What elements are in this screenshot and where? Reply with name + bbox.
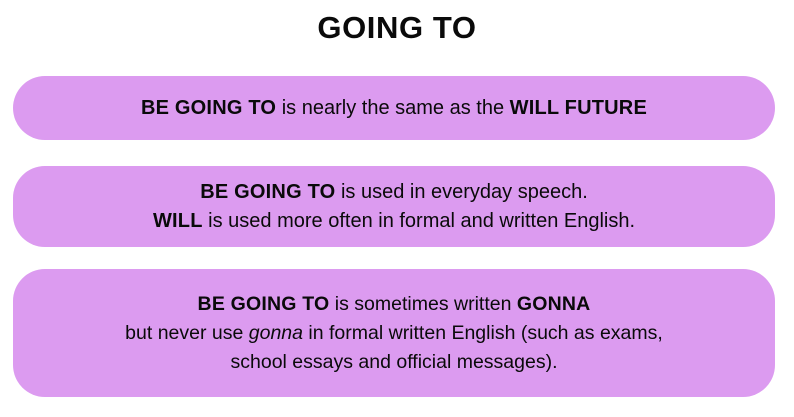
emphasis-bold: GONNA bbox=[517, 293, 591, 315]
card-text-line: but never use gonna in formal written En… bbox=[39, 319, 749, 348]
emphasis-bold: WILL bbox=[153, 210, 203, 232]
text-segment: school essays and official messages). bbox=[231, 351, 558, 373]
infographic-page: GOING TO BE GOING TO is nearly the same … bbox=[0, 0, 794, 417]
card-text-line: BE GOING TO is used in everyday speech. bbox=[39, 178, 749, 207]
emphasis-bold: BE GOING TO bbox=[198, 293, 330, 315]
info-card-nearly-same: BE GOING TO is nearly the same as the WI… bbox=[13, 76, 775, 140]
info-card-gonna: BE GOING TO is sometimes written GONNAbu… bbox=[13, 269, 775, 397]
text-segment: is used more often in formal and written… bbox=[203, 210, 635, 232]
page-title: GOING TO bbox=[0, 9, 794, 47]
emphasis-italic: gonna bbox=[249, 322, 303, 344]
emphasis-bold: WILL FUTURE bbox=[510, 97, 647, 119]
text-segment: in formal written English (such as exams… bbox=[303, 322, 663, 344]
card-text-line: BE GOING TO is sometimes written GONNA bbox=[39, 290, 749, 319]
card-text-line: WILL is used more often in formal and wr… bbox=[39, 207, 749, 236]
card-text-line: BE GOING TO is nearly the same as the WI… bbox=[39, 94, 749, 123]
text-segment: but never use bbox=[125, 322, 249, 344]
emphasis-bold: BE GOING TO bbox=[200, 181, 335, 203]
text-segment: is used in everyday speech. bbox=[335, 181, 587, 203]
text-segment: is sometimes written bbox=[329, 293, 516, 315]
emphasis-bold: BE GOING TO bbox=[141, 97, 276, 119]
text-segment: is nearly the same as the bbox=[276, 97, 509, 119]
card-text-line: school essays and official messages). bbox=[39, 348, 749, 377]
info-card-everyday-vs-formal: BE GOING TO is used in everyday speech.W… bbox=[13, 166, 775, 247]
